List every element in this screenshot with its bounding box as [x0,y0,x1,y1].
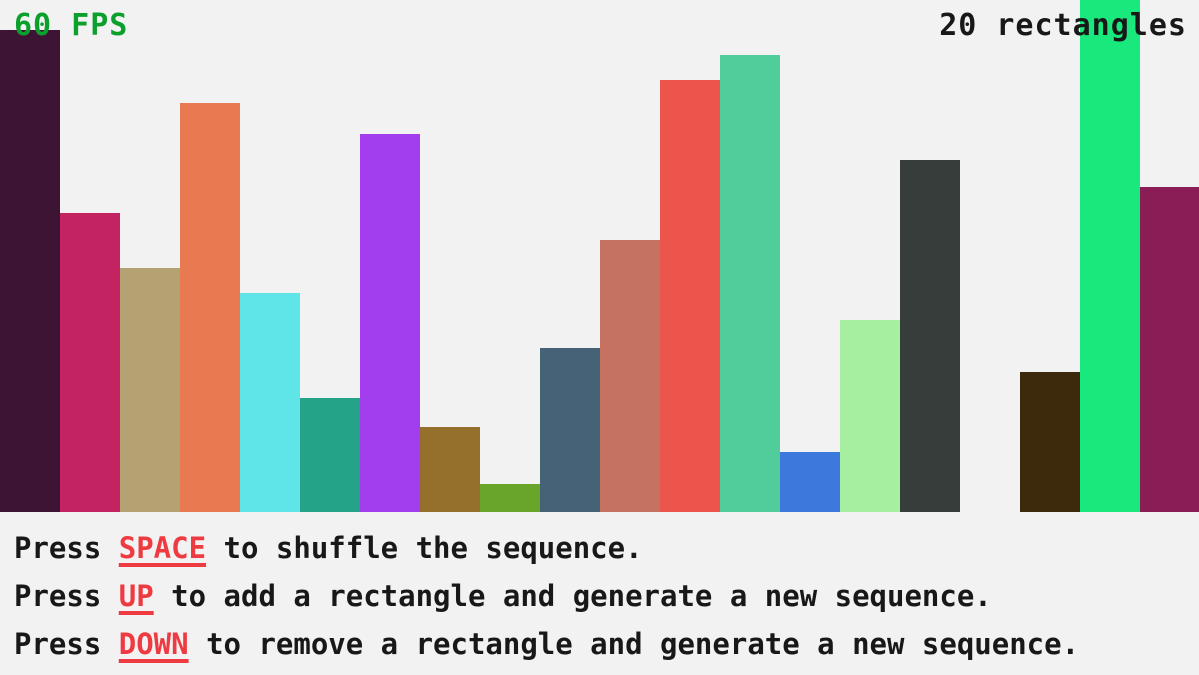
instructions-panel: Press SPACE to shuffle the sequence.Pres… [0,512,1199,675]
bar-rectangle [780,452,840,512]
instruction-line: Press SPACE to shuffle the sequence. [14,524,1199,572]
bar-rectangle [420,427,480,512]
keyboard-key-down[interactable]: DOWN [119,627,189,661]
bar-rectangle [840,320,900,512]
bar-rectangle [180,103,240,512]
bar-rectangle [300,398,360,512]
bar-rectangle [1140,187,1199,512]
instruction-suffix: to add a rectangle and generate a new se… [154,579,992,613]
fps-counter: 60 FPS [14,8,128,43]
instruction-line: Press UP to add a rectangle and generate… [14,572,1199,620]
bar-rectangle [720,55,780,512]
bar-rectangle [1020,372,1080,512]
rectangle-count-label: 20 rectangles [939,8,1187,43]
keyboard-key-up[interactable]: UP [119,579,154,613]
bar-rectangle [240,293,300,512]
rectangle-shuffle-app: 60 FPS 20 rectangles Press SPACE to shuf… [0,0,1199,675]
bar-rectangle [60,213,120,512]
bar-chart [0,0,1199,512]
bar-rectangle [600,240,660,512]
bar-rectangle [540,348,600,512]
instruction-suffix: to remove a rectangle and generate a new… [189,627,1079,661]
instruction-prefix: Press [14,627,119,661]
bar-rectangle [1080,0,1140,512]
bar-rectangle [360,134,420,512]
instruction-suffix: to shuffle the sequence. [206,531,643,565]
bar-rectangle [480,484,540,512]
bar-rectangle [900,160,960,512]
instruction-prefix: Press [14,579,119,613]
bar-rectangle [0,30,60,512]
instruction-line: Press DOWN to remove a rectangle and gen… [14,620,1199,668]
instruction-prefix: Press [14,531,119,565]
bar-rectangle [120,268,180,512]
keyboard-key-space[interactable]: SPACE [119,531,206,565]
bar-rectangle [660,80,720,512]
